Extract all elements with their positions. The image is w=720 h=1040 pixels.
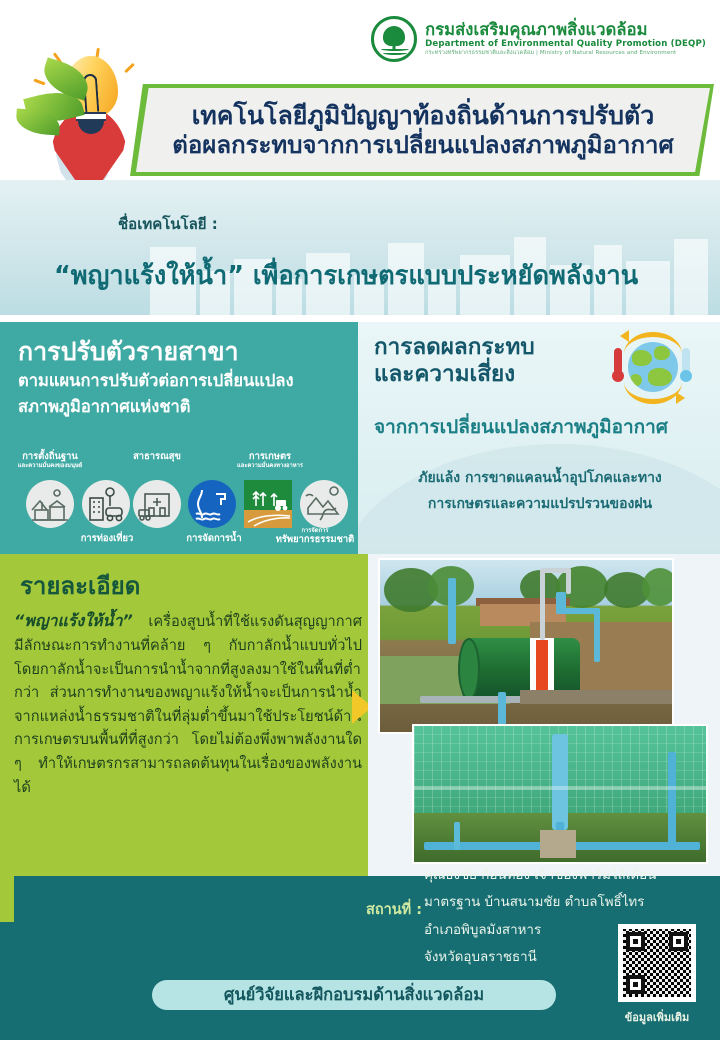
mitigation-heading-line2: และความเสี่ยง <box>374 361 515 387</box>
poster-title: เทคโนโลยีภูมิปัญญาท้องถิ่นด้านการปรับตัว… <box>136 88 710 172</box>
sector-label-natural-resources: การจัดการ ทรัพยากรธรรมชาติ <box>272 528 358 545</box>
mitigation-heading: การลดผลกระทบ และความเสี่ยง <box>374 334 584 389</box>
mitigation-heading-line1: การลดผลกระทบ <box>374 334 535 360</box>
poster-root: กรมส่งเสริมคุณภาพสิ่งแวดล้อม Department … <box>0 0 720 1040</box>
risk-line-1: ภัยแล้ง การขาดแคลนน้ำอุปโภคและทาง <box>418 470 662 486</box>
details-heading: รายละเอียด <box>20 566 140 605</box>
risk-line-2: การเกษตรและความแปรปรวนของฝน <box>428 496 652 512</box>
agriculture-icon[interactable] <box>244 480 292 528</box>
title-line-1: เทคโนโลยีภูมิปัญญาท้องถิ่นด้านการปรับตัว <box>192 101 654 131</box>
tech-name-value: “พญาแร้งให้น้ำ” เพื่อการเกษตรแบบประหยัดพ… <box>54 256 714 296</box>
org-name-th: กรมส่งเสริมคุณภาพสิ่งแวดล้อม <box>425 21 706 39</box>
tourism-icon[interactable] <box>82 480 130 528</box>
settlement-icon[interactable] <box>26 480 74 528</box>
qr-code-icon[interactable] <box>618 924 696 1002</box>
place-label: สถานที่ : <box>366 898 422 921</box>
header: กรมส่งเสริมคุณภาพสิ่งแวดล้อม Department … <box>0 0 720 180</box>
sector-label-tourism: การท่องเที่ยว <box>62 534 152 545</box>
details-lead: “พญาแร้งให้น้ำ” <box>14 611 133 630</box>
deqp-seal-icon <box>371 16 417 62</box>
natural-resources-icon[interactable] <box>300 480 348 528</box>
mitigation-subheading: จากการเปลี่ยนแปลงสภาพภูมิอากาศ <box>374 412 668 442</box>
center-name-pill[interactable]: ศูนย์วิจัยและฝึกอบรมด้านสิ่งแวดล้อม <box>152 980 556 1010</box>
place-line-2: มาตรฐาน บ้านสนามชัย ตำบลโพธิ์ไทร <box>424 889 664 916</box>
photo-green-barrel-pump <box>378 558 674 734</box>
sector-label-settlement: การตั้งถิ่นฐาน และความมั่นคงของมนุษย์ <box>2 452 98 469</box>
ministry-line: กระทรวงทรัพยากรธรรมชาติและสิ่งแวดล้อม | … <box>425 50 706 56</box>
adaptation-heading: การปรับตัวรายสาขา <box>18 332 239 372</box>
deqp-logo: กรมส่งเสริมคุณภาพสิ่งแวดล้อม Department … <box>371 16 706 62</box>
globe-thermometer-icon <box>608 330 692 412</box>
sector-label-agriculture: การเกษตร และความมั่นคงทางอาหาร <box>222 452 318 469</box>
sector-icon-strip: การตั้งถิ่นฐาน และความมั่นคงของมนุษย์ กา… <box>0 452 358 554</box>
title-line-2: ต่อผลกระทบจากการเปลี่ยนแปลงสภาพภูมิอากาศ <box>172 131 673 159</box>
center-name: ศูนย์วิจัยและฝึกอบรมด้านสิ่งแวดล้อม <box>224 982 484 1008</box>
tech-name-label: ชื่อเทคโนโลยี : <box>118 212 218 236</box>
photo-blue-pvc-pipe <box>412 724 708 864</box>
adaptation-subheading: ตามแผนการปรับตัวต่อการเปลี่ยนแปลงสภาพภูม… <box>18 368 338 419</box>
org-name-en: Department of Environmental Quality Prom… <box>425 40 706 50</box>
footer-green-accent <box>0 876 14 922</box>
public-health-icon[interactable] <box>133 480 181 528</box>
sector-label-water: การจัดการน้ำ <box>166 534 262 545</box>
sector-label-health: สาธารณสุข <box>112 452 202 463</box>
place-line-1: คุณธงชัย ก้อนทอง เจ้าของฟาร์มไส้เดือน <box>424 862 664 889</box>
details-body: “พญาแร้งให้น้ำ” เครื่องสูบน้ำที่ใช้แรงดั… <box>14 608 362 799</box>
qr-caption: ข้อมูลเพิ่มเติม <box>608 1008 706 1026</box>
details-text: เครื่องสูบน้ำที่ใช้แรงดันสุญญากาศ มีลักษ… <box>14 613 362 796</box>
water-management-icon[interactable] <box>188 480 236 528</box>
mitigation-risk-text: ภัยแล้ง การขาดแคลนน้ำอุปโภคและทาง การเกษ… <box>370 466 710 518</box>
